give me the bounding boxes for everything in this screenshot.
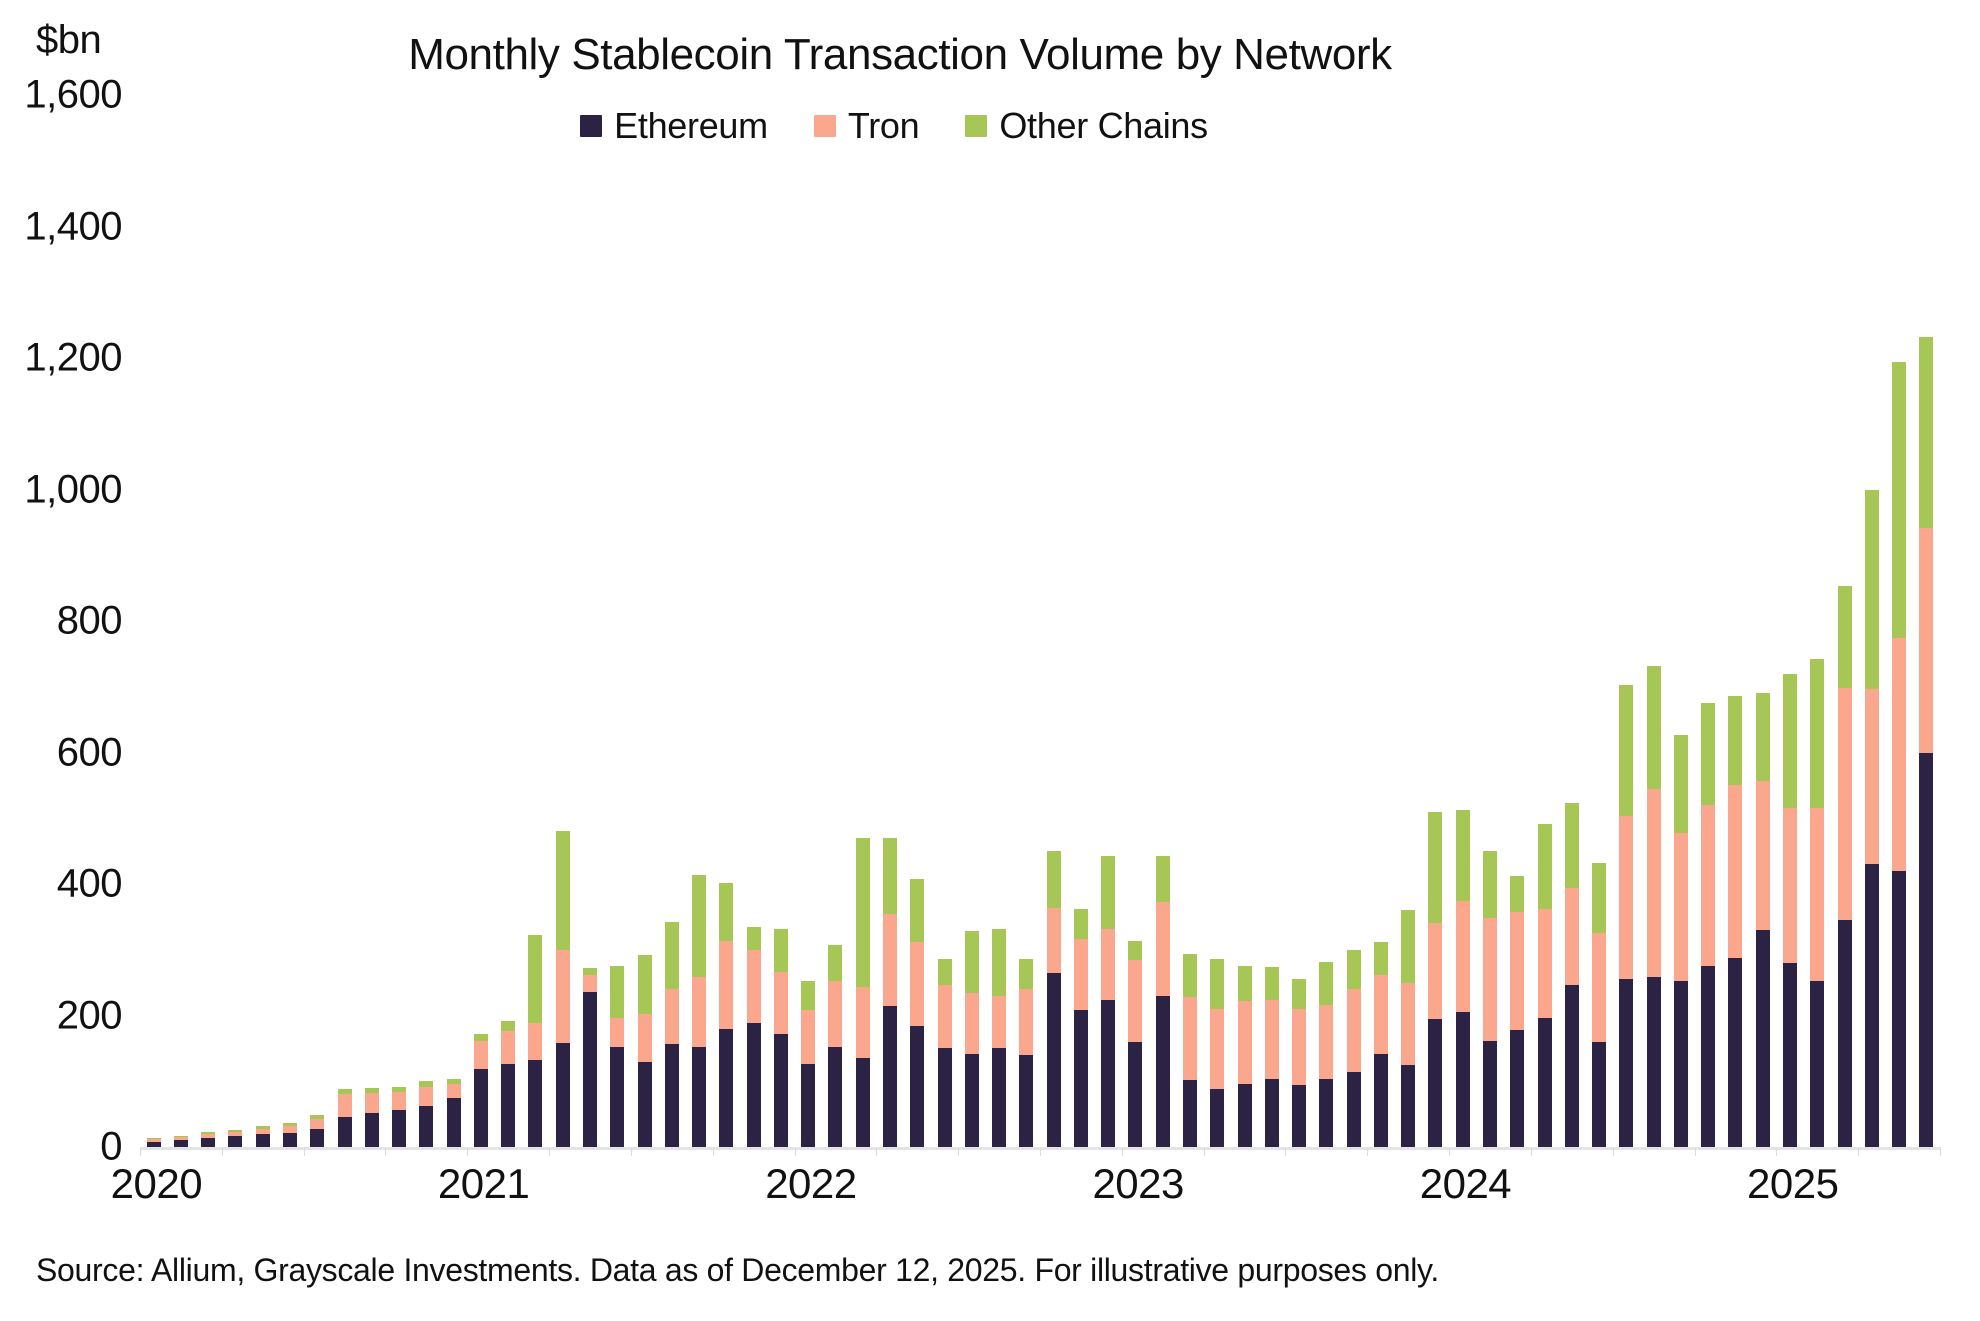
bar-stack[interactable] bbox=[638, 955, 652, 1147]
bar-segment-tron bbox=[692, 977, 706, 1047]
bar-segment-ethereum bbox=[1047, 973, 1061, 1147]
chart-title-text: Monthly Stablecoin Transaction Volume by… bbox=[408, 30, 1392, 80]
x-axis-tick-mark bbox=[795, 1147, 796, 1156]
bar-segment-tron bbox=[1183, 997, 1197, 1080]
bar-segment-ethereum bbox=[1401, 1065, 1415, 1147]
bar-stack[interactable] bbox=[1565, 803, 1579, 1148]
bar-segment-other-chains bbox=[1701, 703, 1715, 806]
bar-stack[interactable] bbox=[1892, 362, 1906, 1147]
bar-segment-tron bbox=[1101, 929, 1115, 1000]
bar-segment-other-chains bbox=[1319, 962, 1333, 1005]
bar-segment-other-chains bbox=[692, 875, 706, 978]
bar-segment-ethereum bbox=[938, 1048, 952, 1147]
bar-segment-tron bbox=[1783, 808, 1797, 963]
bar-segment-other-chains bbox=[1047, 851, 1061, 908]
bar-segment-ethereum bbox=[1619, 979, 1633, 1147]
bar-stack[interactable] bbox=[1156, 856, 1170, 1147]
bar-segment-tron bbox=[910, 942, 924, 1026]
y-axis-tick-label: 1,000 bbox=[24, 467, 122, 512]
bar-segment-ethereum bbox=[1728, 958, 1742, 1147]
x-axis-tick-mark bbox=[1776, 1147, 1777, 1156]
bar-segment-tron bbox=[419, 1087, 433, 1107]
bar-segment-other-chains bbox=[1674, 735, 1688, 832]
bar-stack[interactable] bbox=[938, 959, 952, 1147]
bar-stack[interactable] bbox=[1074, 909, 1088, 1147]
bar-stack[interactable] bbox=[365, 1088, 379, 1147]
bar-segment-tron bbox=[392, 1092, 406, 1110]
bar-segment-ethereum bbox=[1838, 920, 1852, 1147]
bar-segment-tron bbox=[965, 993, 979, 1053]
bar-segment-other-chains bbox=[719, 883, 733, 941]
x-axis-tick-mark bbox=[1858, 1147, 1859, 1156]
bar-segment-ethereum bbox=[392, 1110, 406, 1147]
source-note: Source: Allium, Grayscale Investments. D… bbox=[36, 1252, 1439, 1289]
y-axis-tick-label: 800 bbox=[57, 599, 122, 644]
bar-segment-other-chains bbox=[747, 927, 761, 949]
bar-segment-ethereum bbox=[638, 1062, 652, 1147]
bar-stack[interactable] bbox=[1019, 959, 1033, 1147]
bar-segment-ethereum bbox=[1156, 996, 1170, 1147]
bar-segment-tron bbox=[1238, 1001, 1252, 1084]
bar-segment-other-chains bbox=[938, 959, 952, 985]
bar-segment-tron bbox=[1647, 789, 1661, 977]
x-axis-tick-mark bbox=[385, 1147, 386, 1156]
x-axis-year-label: 2023 bbox=[1092, 1160, 1183, 1208]
bar-segment-tron bbox=[1401, 983, 1415, 1066]
bar-stack[interactable] bbox=[965, 931, 979, 1147]
bar-segment-tron bbox=[1128, 960, 1142, 1042]
bar-segment-ethereum bbox=[1428, 1019, 1442, 1147]
bar-segment-tron bbox=[638, 1014, 652, 1061]
bar-segment-ethereum bbox=[528, 1060, 542, 1147]
bar-stack[interactable] bbox=[447, 1079, 461, 1147]
bar-segment-ethereum bbox=[1892, 871, 1906, 1147]
bar-segment-tron bbox=[1538, 909, 1552, 1018]
bar-stack[interactable] bbox=[1047, 851, 1061, 1147]
bar-segment-tron bbox=[1456, 901, 1470, 1011]
bar-stack[interactable] bbox=[228, 1130, 242, 1147]
bar-segment-tron bbox=[310, 1119, 324, 1128]
bar-segment-tron bbox=[1319, 1005, 1333, 1079]
bar-segment-other-chains bbox=[1183, 954, 1197, 997]
bar-stack[interactable] bbox=[419, 1081, 433, 1147]
x-axis-year-label: 2024 bbox=[1420, 1160, 1511, 1208]
bar-segment-tron bbox=[583, 975, 597, 992]
bar-segment-tron bbox=[1210, 1009, 1224, 1089]
bar-segment-other-chains bbox=[1292, 979, 1306, 1009]
bar-segment-ethereum bbox=[1865, 864, 1879, 1147]
bar-stack[interactable] bbox=[1101, 856, 1115, 1147]
bar-segment-tron bbox=[665, 989, 679, 1044]
bar-segment-ethereum bbox=[692, 1047, 706, 1147]
bar-segment-tron bbox=[1292, 1009, 1306, 1085]
bar-segment-tron bbox=[1483, 918, 1497, 1040]
bar-segment-other-chains bbox=[1347, 950, 1361, 989]
bar-segment-ethereum bbox=[665, 1044, 679, 1147]
bar-segment-ethereum bbox=[965, 1054, 979, 1147]
bar-segment-ethereum bbox=[801, 1064, 815, 1147]
bar-segment-other-chains bbox=[610, 966, 624, 1019]
chart-figure: $bn Monthly Stablecoin Transaction Volum… bbox=[0, 0, 1980, 1321]
bar-segment-ethereum bbox=[992, 1048, 1006, 1147]
bar-segment-ethereum bbox=[447, 1098, 461, 1147]
x-axis-year-label: 2022 bbox=[765, 1160, 856, 1208]
bar-segment-tron bbox=[1865, 689, 1879, 864]
bar-segment-other-chains bbox=[665, 922, 679, 989]
bar-segment-other-chains bbox=[1619, 685, 1633, 815]
x-axis-tick-mark bbox=[958, 1147, 959, 1156]
bar-stack[interactable] bbox=[774, 929, 788, 1147]
bar-segment-other-chains bbox=[1538, 824, 1552, 909]
bar-segment-tron bbox=[1047, 908, 1061, 974]
bar-segment-other-chains bbox=[501, 1021, 515, 1032]
x-axis-tick-mark bbox=[1040, 1147, 1041, 1156]
x-axis-tick-mark bbox=[1122, 1147, 1123, 1156]
bar-segment-tron bbox=[1701, 805, 1715, 965]
bar-segment-other-chains bbox=[965, 931, 979, 993]
bar-segment-tron bbox=[719, 941, 733, 1029]
bar-segment-ethereum bbox=[1919, 753, 1933, 1148]
x-axis-tick-mark bbox=[1531, 1147, 1532, 1156]
bar-stack[interactable] bbox=[1319, 962, 1333, 1147]
y-axis-tick-label: 1,400 bbox=[24, 204, 122, 249]
bar-segment-tron bbox=[1728, 785, 1742, 957]
bar-segment-other-chains bbox=[1565, 803, 1579, 888]
bar-segment-ethereum bbox=[1319, 1079, 1333, 1147]
bar-stack[interactable] bbox=[1865, 490, 1879, 1147]
bar-stack[interactable] bbox=[801, 981, 815, 1147]
bar-stack[interactable] bbox=[1538, 824, 1552, 1147]
bar-segment-other-chains bbox=[1810, 659, 1824, 808]
bar-segment-tron bbox=[747, 950, 761, 1024]
bar-stack[interactable] bbox=[1347, 950, 1361, 1147]
x-axis-tick-marks bbox=[140, 1147, 1940, 1157]
bar-segment-other-chains bbox=[828, 945, 842, 982]
y-axis-tick-label: 400 bbox=[57, 862, 122, 907]
bar-segment-ethereum bbox=[283, 1133, 297, 1147]
bar-segment-other-chains bbox=[1483, 851, 1497, 918]
bar-segment-ethereum bbox=[1538, 1018, 1552, 1147]
bar-stack[interactable] bbox=[1510, 876, 1524, 1147]
bar-segment-tron bbox=[1892, 638, 1906, 871]
bar-segment-other-chains bbox=[528, 935, 542, 1023]
x-axis-tick-mark bbox=[304, 1147, 305, 1156]
bar-segment-ethereum bbox=[419, 1106, 433, 1147]
bar-stack[interactable] bbox=[1756, 693, 1770, 1147]
bar-stack[interactable] bbox=[1128, 941, 1142, 1147]
bar-segment-tron bbox=[474, 1041, 488, 1070]
bar-segment-other-chains bbox=[1019, 959, 1033, 989]
bar-segment-ethereum bbox=[1238, 1084, 1252, 1147]
bar-segment-tron bbox=[1510, 912, 1524, 1030]
bar-segment-ethereum bbox=[610, 1047, 624, 1147]
bar-segment-ethereum bbox=[1592, 1042, 1606, 1147]
bar-segment-tron bbox=[938, 985, 952, 1048]
bar-segment-tron bbox=[1156, 902, 1170, 995]
x-axis-tick-mark bbox=[1204, 1147, 1205, 1156]
bar-segment-ethereum bbox=[774, 1034, 788, 1147]
bar-stack[interactable] bbox=[1292, 979, 1306, 1147]
bar-stack[interactable] bbox=[1238, 966, 1252, 1147]
bar-stack[interactable] bbox=[201, 1132, 215, 1147]
bar-segment-ethereum bbox=[1456, 1012, 1470, 1147]
bar-stack[interactable] bbox=[1783, 674, 1797, 1147]
bar-segment-tron bbox=[1838, 688, 1852, 919]
bar-segment-tron bbox=[528, 1023, 542, 1060]
bar-segment-ethereum bbox=[883, 1006, 897, 1147]
bar-segment-tron bbox=[1919, 528, 1933, 753]
bar-segment-ethereum bbox=[256, 1134, 270, 1147]
bar-segment-other-chains bbox=[1156, 856, 1170, 902]
bar-segment-tron bbox=[992, 996, 1006, 1049]
bar-segment-tron bbox=[556, 950, 570, 1043]
x-axis-tick-mark bbox=[713, 1147, 714, 1156]
bar-segment-ethereum bbox=[501, 1064, 515, 1147]
bar-segment-other-chains bbox=[1919, 337, 1933, 528]
bar-segment-ethereum bbox=[1510, 1030, 1524, 1147]
bar-stack[interactable] bbox=[692, 875, 706, 1147]
bar-segment-tron bbox=[1374, 975, 1388, 1054]
x-axis-tick-mark bbox=[1449, 1147, 1450, 1156]
bar-segment-ethereum bbox=[1183, 1080, 1197, 1147]
bar-segment-ethereum bbox=[856, 1058, 870, 1147]
bar-segment-tron bbox=[1074, 939, 1088, 1010]
bar-segment-other-chains bbox=[910, 879, 924, 942]
bar-stack[interactable] bbox=[1919, 337, 1933, 1147]
x-axis-year-label: 2021 bbox=[438, 1160, 529, 1208]
bar-segment-other-chains bbox=[1238, 966, 1252, 1002]
bar-segment-other-chains bbox=[774, 929, 788, 972]
bar-stack[interactable] bbox=[1265, 967, 1279, 1147]
bar-stack[interactable] bbox=[392, 1087, 406, 1147]
bar-segment-tron bbox=[501, 1031, 515, 1064]
bar-stack[interactable] bbox=[1810, 659, 1824, 1147]
bar-segment-ethereum bbox=[747, 1023, 761, 1147]
x-axis-tick-mark bbox=[1695, 1147, 1696, 1156]
bar-stack[interactable] bbox=[1728, 696, 1742, 1147]
bar-segment-other-chains bbox=[1592, 863, 1606, 933]
bar-segment-tron bbox=[338, 1094, 352, 1116]
bar-segment-ethereum bbox=[828, 1047, 842, 1147]
bar-stack[interactable] bbox=[283, 1123, 297, 1147]
bar-stack[interactable] bbox=[665, 922, 679, 1147]
bar-segment-tron bbox=[447, 1084, 461, 1098]
bar-segment-ethereum bbox=[1374, 1054, 1388, 1147]
bar-segment-ethereum bbox=[556, 1043, 570, 1147]
x-axis-tick-mark bbox=[467, 1147, 468, 1156]
bar-stack[interactable] bbox=[1210, 959, 1224, 1147]
bar-segment-ethereum bbox=[1483, 1041, 1497, 1148]
x-axis-tick-mark bbox=[140, 1147, 141, 1156]
bar-segment-other-chains bbox=[856, 838, 870, 987]
bar-stack[interactable] bbox=[828, 945, 842, 1148]
y-axis-tick-label: 200 bbox=[57, 993, 122, 1038]
bar-segment-other-chains bbox=[1101, 856, 1115, 928]
bar-stack[interactable] bbox=[610, 966, 624, 1147]
bar-stack[interactable] bbox=[501, 1021, 515, 1147]
bar-segment-tron bbox=[1619, 816, 1633, 979]
x-axis-year-labels: 202020212022202320242025 bbox=[140, 1160, 1940, 1230]
bar-segment-tron bbox=[1756, 781, 1770, 930]
bar-stack[interactable] bbox=[338, 1089, 352, 1147]
y-axis-tick-label: 1,200 bbox=[24, 336, 122, 381]
bar-stack[interactable] bbox=[747, 927, 761, 1147]
bar-segment-ethereum bbox=[1647, 977, 1661, 1147]
bar-stack[interactable] bbox=[1428, 812, 1442, 1147]
bar-segment-other-chains bbox=[1401, 910, 1415, 982]
bar-segment-tron bbox=[1428, 923, 1442, 1019]
bar-segment-tron bbox=[1810, 808, 1824, 982]
bar-segment-other-chains bbox=[1838, 586, 1852, 689]
bar-segment-tron bbox=[883, 914, 897, 1006]
chart-title: Monthly Stablecoin Transaction Volume by… bbox=[0, 30, 1980, 80]
bar-segment-tron bbox=[774, 972, 788, 1034]
y-axis-tick-label: 600 bbox=[57, 730, 122, 775]
bar-segment-tron bbox=[828, 981, 842, 1047]
bar-stack[interactable] bbox=[310, 1115, 324, 1147]
y-axis-tick-labels: 02004006008001,0001,2001,4001,600 bbox=[0, 95, 122, 1147]
bar-segment-other-chains bbox=[1510, 876, 1524, 912]
bar-segment-ethereum bbox=[338, 1117, 352, 1147]
bar-stack[interactable] bbox=[856, 838, 870, 1147]
bar-segment-ethereum bbox=[1019, 1055, 1033, 1147]
x-axis-tick-mark bbox=[222, 1147, 223, 1156]
bar-segment-other-chains bbox=[1783, 674, 1797, 808]
bar-segment-ethereum bbox=[1783, 963, 1797, 1147]
x-axis-tick-mark bbox=[1940, 1147, 1941, 1156]
bar-segment-ethereum bbox=[1101, 1000, 1115, 1147]
bar-segment-tron bbox=[801, 1010, 815, 1064]
bar-stack[interactable] bbox=[910, 879, 924, 1147]
bar-segment-tron bbox=[1565, 888, 1579, 985]
bar-stack[interactable] bbox=[719, 883, 733, 1147]
bar-segment-other-chains bbox=[992, 929, 1006, 996]
bar-stack[interactable] bbox=[1483, 851, 1497, 1147]
bar-segment-other-chains bbox=[1756, 693, 1770, 781]
bar-segment-other-chains bbox=[1456, 810, 1470, 901]
bar-stack[interactable] bbox=[1456, 810, 1470, 1147]
bar-segment-other-chains bbox=[1428, 812, 1442, 924]
bar-stack[interactable] bbox=[1674, 735, 1688, 1147]
bar-stack[interactable] bbox=[583, 968, 597, 1147]
plot-area bbox=[140, 95, 1940, 1147]
bar-segment-ethereum bbox=[310, 1129, 324, 1147]
bar-stack[interactable] bbox=[1374, 942, 1388, 1147]
bar-segment-tron bbox=[856, 987, 870, 1058]
bar-stack[interactable] bbox=[1183, 954, 1197, 1147]
bar-stack[interactable] bbox=[174, 1136, 188, 1147]
x-axis-tick-mark bbox=[1285, 1147, 1286, 1156]
bar-segment-other-chains bbox=[883, 838, 897, 914]
bar-segment-other-chains bbox=[1647, 666, 1661, 790]
bar-segment-tron bbox=[1347, 989, 1361, 1072]
bar-stack[interactable] bbox=[147, 1138, 161, 1147]
bar-segment-ethereum bbox=[1347, 1072, 1361, 1147]
bar-segment-ethereum bbox=[1701, 966, 1715, 1147]
bar-stack[interactable] bbox=[1701, 703, 1715, 1147]
bar-segment-ethereum bbox=[1565, 985, 1579, 1147]
x-axis-year-label: 2020 bbox=[111, 1160, 202, 1208]
bar-series-container bbox=[140, 95, 1940, 1147]
bar-stack[interactable] bbox=[883, 838, 897, 1147]
bar-segment-ethereum bbox=[1292, 1085, 1306, 1147]
bar-segment-tron bbox=[610, 1018, 624, 1047]
bar-stack[interactable] bbox=[556, 831, 570, 1147]
bar-segment-ethereum bbox=[1074, 1010, 1088, 1147]
bar-segment-ethereum bbox=[1810, 981, 1824, 1147]
bar-segment-other-chains bbox=[1892, 362, 1906, 638]
bar-segment-ethereum bbox=[1265, 1079, 1279, 1147]
bar-segment-other-chains bbox=[1728, 696, 1742, 785]
bar-stack[interactable] bbox=[1619, 685, 1633, 1147]
bar-segment-tron bbox=[1674, 833, 1688, 982]
bar-segment-ethereum bbox=[1674, 981, 1688, 1147]
bar-segment-ethereum bbox=[910, 1026, 924, 1147]
x-axis-tick-mark bbox=[549, 1147, 550, 1156]
bar-stack[interactable] bbox=[1592, 863, 1606, 1147]
bar-segment-ethereum bbox=[719, 1029, 733, 1147]
x-axis-tick-mark bbox=[1367, 1147, 1368, 1156]
bar-stack[interactable] bbox=[1647, 666, 1661, 1147]
bar-stack[interactable] bbox=[474, 1034, 488, 1147]
bar-segment-other-chains bbox=[1210, 959, 1224, 1009]
bar-segment-other-chains bbox=[1374, 942, 1388, 975]
y-axis-tick-label: 1,600 bbox=[24, 73, 122, 118]
x-axis-tick-mark bbox=[876, 1147, 877, 1156]
bar-segment-other-chains bbox=[1074, 909, 1088, 939]
bar-segment-tron bbox=[1592, 933, 1606, 1042]
bar-segment-other-chains bbox=[556, 831, 570, 949]
bar-stack[interactable] bbox=[256, 1126, 270, 1147]
bar-stack[interactable] bbox=[1401, 910, 1415, 1147]
bar-segment-ethereum bbox=[228, 1136, 242, 1147]
bar-segment-ethereum bbox=[1756, 930, 1770, 1147]
bar-segment-ethereum bbox=[474, 1069, 488, 1147]
bar-segment-other-chains bbox=[1128, 941, 1142, 961]
bar-segment-tron bbox=[1019, 989, 1033, 1055]
bar-segment-ethereum bbox=[365, 1113, 379, 1147]
bar-segment-tron bbox=[365, 1093, 379, 1113]
bar-segment-ethereum bbox=[201, 1138, 215, 1147]
bar-segment-ethereum bbox=[583, 992, 597, 1147]
x-axis-tick-mark bbox=[631, 1147, 632, 1156]
bar-segment-tron bbox=[1265, 1000, 1279, 1079]
bar-segment-other-chains bbox=[1865, 490, 1879, 690]
bar-stack[interactable] bbox=[528, 935, 542, 1147]
bar-segment-other-chains bbox=[801, 981, 815, 1010]
bar-segment-other-chains bbox=[638, 955, 652, 1014]
bar-segment-ethereum bbox=[1128, 1042, 1142, 1147]
bar-segment-other-chains bbox=[1265, 967, 1279, 1000]
bar-segment-ethereum bbox=[1210, 1089, 1224, 1147]
x-axis-tick-mark bbox=[1613, 1147, 1614, 1156]
bar-stack[interactable] bbox=[1838, 586, 1852, 1147]
bar-stack[interactable] bbox=[992, 929, 1006, 1147]
x-axis-year-label: 2025 bbox=[1747, 1160, 1838, 1208]
